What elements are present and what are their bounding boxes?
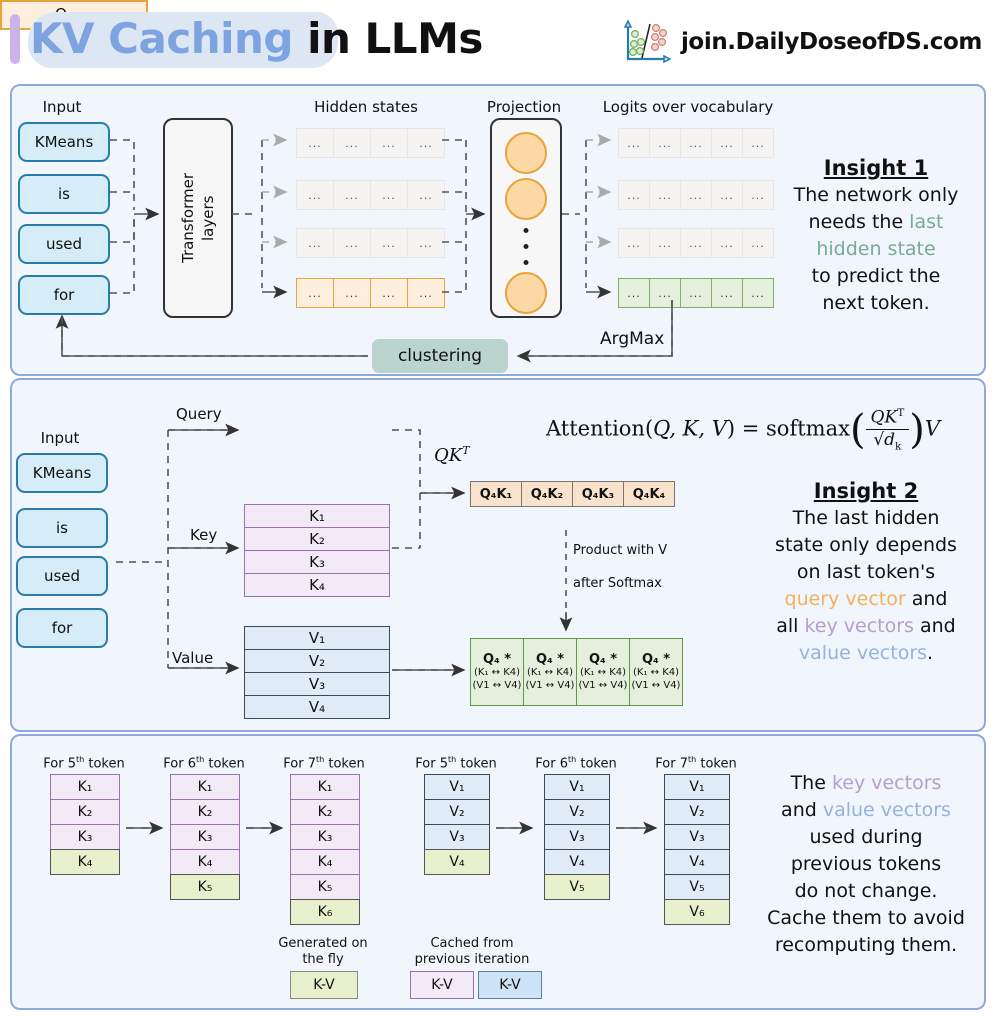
cached-key-row: K₃ — [50, 824, 120, 850]
qk-cell: Q₄K₃ — [572, 481, 624, 507]
value-row: V₁ — [244, 626, 390, 650]
attention-output-cell: Q₄ * (K₁ ↔ K4) (V1 ↔ V4) — [629, 638, 683, 706]
infographic-page: KV Caching in LLMs join.DailyDoseofDS.co… — [0, 0, 996, 1016]
hidden-cell: ... — [333, 228, 371, 258]
attention-output-cell: Q₄ * (K₁ ↔ K4) (V1 ↔ V4) — [576, 638, 630, 706]
token-box[interactable]: KMeans — [18, 122, 110, 162]
token-box[interactable]: is — [16, 508, 108, 548]
label-input-1: Input — [43, 98, 82, 116]
token-box[interactable]: KMeans — [16, 453, 108, 493]
insight-1-heading: Insight 1 — [762, 155, 990, 182]
hidden-cell: ... — [370, 228, 408, 258]
attention-output-row: Q₄ * (K₁ ↔ K4) (V1 ↔ V4) Q₄ * (K₁ ↔ K4) … — [470, 638, 683, 706]
insight-1-line-4: to predict the — [762, 263, 990, 290]
cached-value-row: V₄ — [544, 849, 610, 875]
insight-3-line-4: previous tokens — [748, 851, 984, 878]
qk-cell: Q₄K₂ — [521, 481, 573, 507]
legend-cached-line1: Cached from — [430, 936, 513, 951]
insight-1-line-2: needs the last — [762, 209, 990, 236]
qk-cell: Q₄K₄ — [623, 481, 675, 507]
key-row: K₃ — [244, 550, 390, 574]
cached-key-row: K₂ — [290, 799, 360, 825]
ellipsis-dot — [524, 260, 529, 265]
label-hidden-states: Hidden states — [314, 98, 418, 116]
logit-row: ... ... ... ... ... — [618, 128, 774, 158]
cached-value-row: V₂ — [544, 799, 610, 825]
label-query: Query — [176, 405, 222, 423]
logit-cell: ... — [618, 180, 650, 210]
hidden-cell: ... — [370, 128, 408, 158]
logit-cell: ... — [618, 278, 650, 308]
cached-key-row: K₅ — [290, 874, 360, 900]
kv-group-caption: For 7th token — [655, 755, 736, 771]
label-projection: Projection — [487, 98, 561, 116]
insight-2-line-2: state only depends — [748, 532, 984, 559]
insight-1-line-1: The network only — [762, 182, 990, 209]
cached-key-row: K₁ — [290, 774, 360, 800]
title-suffix: in LLMs — [293, 14, 483, 63]
logit-cell: ... — [680, 278, 712, 308]
insight-3-line-5: do not change. — [748, 878, 984, 905]
transformer-layers-label: Transformerlayers — [178, 173, 218, 263]
insight-2-line-1: The last hidden — [748, 505, 984, 532]
attention-output-cell: Q₄ * (K₁ ↔ K4) (V1 ↔ V4) — [523, 638, 577, 706]
page-header: KV Caching in LLMs join.DailyDoseofDS.co… — [0, 0, 996, 82]
insight-3-line-7: recomputing them. — [748, 932, 984, 959]
kv-group-caption: For 6th token — [163, 755, 244, 771]
logit-row: ... ... ... ... ... — [618, 228, 774, 258]
logit-cell: ... — [649, 278, 681, 308]
title-keyword: KV Caching — [30, 14, 293, 63]
attention-formula: Attention(Q, K, V) = softmax(QKT√dk)V — [546, 404, 940, 456]
hidden-cell: ... — [333, 278, 371, 308]
logit-cell: ... — [711, 278, 743, 308]
hidden-cell: ... — [296, 228, 334, 258]
product-note-line1: Product with V — [573, 543, 667, 558]
legend-cached-key-box: K-V — [410, 971, 474, 999]
token-box[interactable]: for — [16, 608, 108, 648]
fresh-key-row: K₅ — [170, 874, 240, 900]
label-key: Key — [190, 526, 217, 544]
cached-value-row: V₁ — [664, 774, 730, 800]
fresh-value-row: V₅ — [544, 874, 610, 900]
qk-score-row: Q₄K₁ Q₄K₂ Q₄K₃ Q₄K₄ — [470, 481, 675, 507]
hidden-cell: ... — [407, 228, 445, 258]
fresh-key-row: K₆ — [290, 899, 360, 925]
ellipsis-dot — [524, 228, 529, 233]
value-row: V₄ — [244, 695, 390, 719]
value-row: V₂ — [244, 649, 390, 673]
insight-3-line-3: used during — [748, 824, 984, 851]
token-box[interactable]: used — [18, 224, 110, 264]
insight-2-line-5: all key vectors and — [748, 613, 984, 640]
logit-cell: ... — [680, 228, 712, 258]
hidden-cell: ... — [407, 278, 445, 308]
key-row: K₄ — [244, 573, 390, 597]
legend-cached-value-box: K-V — [478, 971, 542, 999]
title-accent-bar — [10, 14, 20, 64]
hidden-cell: ... — [370, 180, 408, 210]
cached-value-row: V₃ — [424, 824, 490, 850]
logit-cell: ... — [742, 128, 774, 158]
logit-cell: ... — [711, 128, 743, 158]
cached-value-row: V₅ — [664, 874, 730, 900]
insight-1-text: Insight 1 The network only needs the las… — [762, 155, 990, 317]
cached-key-row: K₄ — [170, 849, 240, 875]
label-input-2: Input — [41, 429, 80, 447]
insight-2-text: Insight 2 The last hidden state only dep… — [748, 478, 984, 667]
key-cache-stack: K₁ K₂ K₃ K₄ — [50, 775, 120, 875]
fresh-value-row: V₆ — [664, 899, 730, 925]
logit-cell: ... — [618, 228, 650, 258]
insight-3-text: The key vectors and value vectors used d… — [748, 770, 984, 959]
value-cache-stack: V₁ V₂ V₃ V₄ — [424, 775, 490, 875]
scatter-plot-icon — [621, 18, 673, 66]
value-cache-stack: V₁ V₂ V₃ V₄ V₅ — [544, 775, 610, 900]
fresh-key-row: K₄ — [50, 849, 120, 875]
cached-value-row: V₂ — [664, 799, 730, 825]
legend-fresh-line1: Generated on — [278, 936, 367, 951]
logit-cell: ... — [618, 128, 650, 158]
ellipsis-dot — [524, 244, 529, 249]
hidden-cell: ... — [407, 128, 445, 158]
fresh-value-row: V₄ — [424, 849, 490, 875]
logit-cell: ... — [649, 228, 681, 258]
cached-value-row: V₃ — [544, 824, 610, 850]
logit-cell: ... — [711, 228, 743, 258]
label-logits: Logits over vocabulary — [603, 98, 774, 116]
cached-key-row: K₃ — [170, 824, 240, 850]
argmax-label: ArgMax — [600, 329, 664, 349]
qk-cell: Q₄K₁ — [470, 481, 522, 507]
attention-output-cell: Q₄ * (K₁ ↔ K4) (V1 ↔ V4) — [470, 638, 524, 706]
hidden-state-row: ... ... ... ... — [296, 180, 445, 210]
projection-node — [505, 132, 547, 174]
hidden-state-row: ... ... ... ... — [296, 128, 445, 158]
key-row: K₁ — [244, 504, 390, 528]
logit-cell: ... — [680, 128, 712, 158]
insight-3-line-1: The key vectors — [748, 770, 984, 797]
token-box[interactable]: is — [18, 174, 110, 214]
hidden-cell: ... — [407, 180, 445, 210]
hidden-state-row: ... ... ... ... — [296, 228, 445, 258]
kv-group-caption: For 5th token — [415, 755, 496, 771]
cached-value-row: V₂ — [424, 799, 490, 825]
logit-cell: ... — [649, 180, 681, 210]
insight-1-line-5: next token. — [762, 290, 990, 317]
qkt-label: QKT — [434, 444, 470, 466]
cached-value-row: V₁ — [424, 774, 490, 800]
logit-cell: ... — [680, 180, 712, 210]
clustering-box[interactable]: clustering — [372, 339, 508, 373]
brand-url[interactable]: join.DailyDoseofDS.com — [681, 29, 982, 55]
logit-row: ... ... ... ... ... — [618, 180, 774, 210]
key-vector-stack: K₁ K₂ K₃ K₄ — [244, 504, 390, 597]
page-title: KV Caching in LLMs — [30, 14, 483, 64]
cached-key-row: K₁ — [170, 774, 240, 800]
cached-key-row: K₃ — [290, 824, 360, 850]
insight-3-line-6: Cache them to avoid — [748, 905, 984, 932]
legend-fresh-line2: the fly — [302, 952, 343, 967]
logit-cell: ... — [649, 128, 681, 158]
kv-group-caption: For 5th token — [43, 755, 124, 771]
insight-2-line-3: on last token's — [748, 559, 984, 586]
logit-row-selected: ... ... ... ... ... — [618, 278, 774, 308]
hidden-cell: ... — [370, 278, 408, 308]
legend-fresh-box: K-V — [290, 971, 358, 999]
cached-value-row: V₃ — [664, 824, 730, 850]
value-vector-stack: V₁ V₂ V₃ V₄ — [244, 626, 390, 719]
key-cache-stack: K₁ K₂ K₃ K₄ K₅ — [170, 775, 240, 900]
brand-block: join.DailyDoseofDS.com — [621, 18, 982, 66]
kv-group-caption: For 6th token — [535, 755, 616, 771]
hidden-cell: ... — [333, 128, 371, 158]
kv-group-caption: For 7th token — [283, 755, 364, 771]
insight-2-heading: Insight 2 — [748, 478, 984, 505]
cached-key-row: K₄ — [290, 849, 360, 875]
logit-cell: ... — [711, 180, 743, 210]
hidden-state-row-last: ... ... ... ... — [296, 278, 445, 308]
projection-block — [490, 118, 562, 318]
projection-node — [505, 272, 547, 314]
transformer-layers-block: Transformerlayers — [163, 118, 233, 318]
cached-key-row: K₂ — [170, 799, 240, 825]
token-box[interactable]: for — [18, 275, 110, 315]
key-row: K₂ — [244, 527, 390, 551]
token-box[interactable]: used — [16, 556, 108, 596]
hidden-cell: ... — [296, 278, 334, 308]
projection-node — [505, 178, 547, 220]
legend-cached-line2: previous iteration — [415, 952, 530, 967]
cached-value-row: V₄ — [664, 849, 730, 875]
cached-key-row: K₂ — [50, 799, 120, 825]
cached-value-row: V₁ — [544, 774, 610, 800]
insight-1-line-3: hidden state — [762, 236, 990, 263]
product-note-line2: after Softmax — [573, 576, 662, 591]
hidden-cell: ... — [296, 128, 334, 158]
hidden-cell: ... — [333, 180, 371, 210]
label-value: Value — [172, 649, 213, 667]
value-row: V₃ — [244, 672, 390, 696]
insight-3-line-2: and value vectors — [748, 797, 984, 824]
value-cache-stack: V₁ V₂ V₃ V₄ V₅ V₆ — [664, 775, 730, 925]
cached-key-row: K₁ — [50, 774, 120, 800]
key-cache-stack: K₁ K₂ K₃ K₄ K₅ K₆ — [290, 775, 360, 925]
insight-2-line-6: value vectors. — [748, 640, 984, 667]
insight-2-line-4: query vector and — [748, 586, 984, 613]
hidden-cell: ... — [296, 180, 334, 210]
